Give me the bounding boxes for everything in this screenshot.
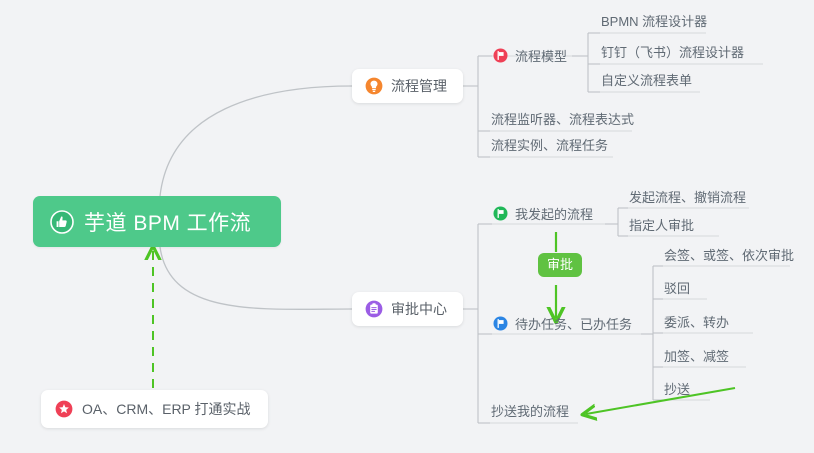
flag-icon — [493, 206, 508, 221]
leaf-node[interactable]: 指定人审批 — [629, 216, 694, 236]
node-label: 待办任务、已办任务 — [515, 314, 632, 333]
leaf-node[interactable]: BPMN 流程设计器 — [601, 12, 707, 32]
leaf-node[interactable]: 加签、减签 — [664, 347, 729, 367]
flag-icon — [493, 48, 508, 63]
leaf-node[interactable]: 流程实例、流程任务 — [491, 136, 608, 156]
node-todo-done-tasks[interactable]: 待办任务、已办任务 — [493, 312, 632, 334]
leaf-node[interactable]: 抄送 — [664, 380, 690, 400]
branch-label: 审批中心 — [391, 299, 447, 319]
leaf-node[interactable]: 会签、或签、依次审批 — [664, 246, 794, 266]
leaf-node[interactable]: 抄送我的流程 — [491, 402, 569, 422]
mindmap-canvas: 芋道 BPM 工作流 流程管理 流程模型 BPMN 流程设计器 钉钉（飞书）流程… — [0, 0, 814, 453]
thumbs-up-icon — [50, 210, 74, 234]
lightbulb-icon — [365, 77, 383, 95]
node-label: 我发起的流程 — [515, 204, 593, 223]
root-label: 芋道 BPM 工作流 — [84, 207, 251, 237]
leaf-node[interactable]: 发起流程、撤销流程 — [629, 188, 746, 208]
note-card-label: OA、CRM、ERP 打通实战 — [82, 399, 251, 419]
branch-node-process-management[interactable]: 流程管理 — [352, 69, 463, 103]
clipboard-icon — [365, 300, 383, 318]
node-my-initiated-processes[interactable]: 我发起的流程 — [493, 202, 593, 224]
leaf-node[interactable]: 驳回 — [664, 279, 690, 299]
approval-annotation-badge[interactable]: 审批 — [538, 253, 582, 277]
branch-node-approval-center[interactable]: 审批中心 — [352, 292, 463, 326]
node-process-model[interactable]: 流程模型 — [493, 44, 567, 66]
leaf-node[interactable]: 钉钉（飞书）流程设计器 — [601, 43, 744, 63]
node-label: 流程模型 — [515, 46, 567, 65]
leaf-node[interactable]: 委派、转办 — [664, 313, 729, 333]
leaf-node[interactable]: 自定义流程表单 — [601, 71, 692, 91]
root-node[interactable]: 芋道 BPM 工作流 — [33, 196, 281, 247]
star-icon — [55, 400, 73, 418]
note-card-integration[interactable]: OA、CRM、ERP 打通实战 — [41, 390, 268, 428]
flag-icon — [493, 316, 508, 331]
leaf-node[interactable]: 流程监听器、流程表达式 — [491, 110, 634, 130]
branch-label: 流程管理 — [391, 76, 447, 96]
